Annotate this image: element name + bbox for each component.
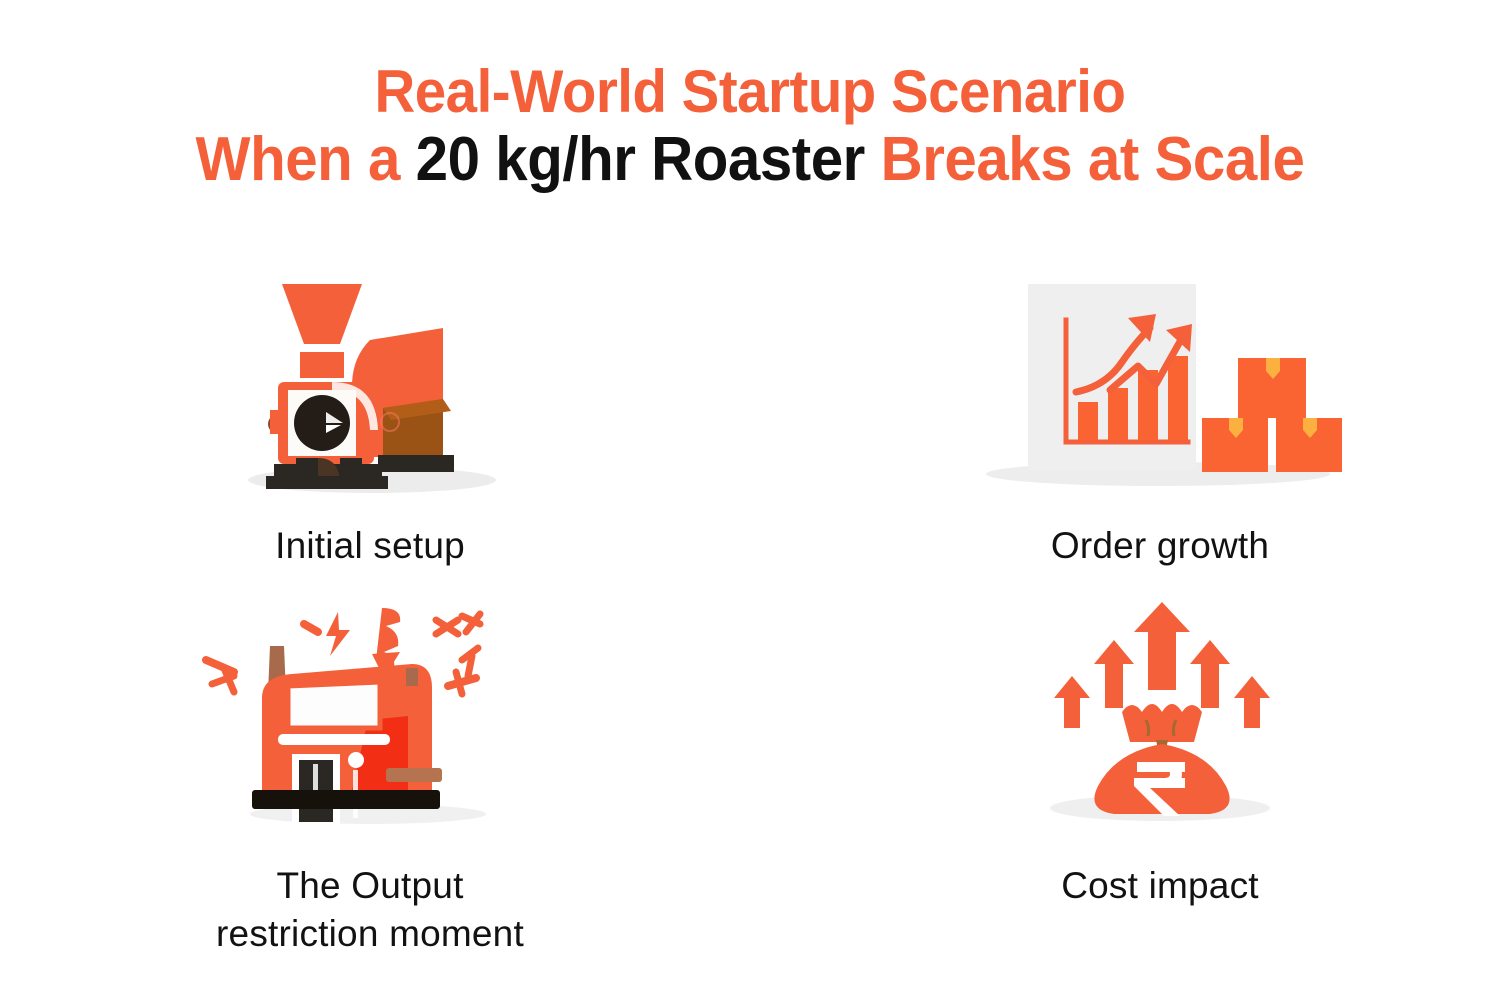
- step-card-order-growth: Order growth: [930, 262, 1390, 570]
- caption-line: Order growth: [930, 522, 1390, 570]
- step-card-cost-impact: Cost impact: [930, 602, 1390, 910]
- step-card-initial-setup: Initial setup: [140, 262, 600, 570]
- title-highlight-spec: 20 kg/hr Roaster: [416, 125, 865, 194]
- rising-arrow-group: [1054, 602, 1270, 728]
- caption-line: restriction moment: [140, 910, 600, 958]
- growth-chart-and-boxes-icon: [930, 262, 1390, 502]
- chart-bar-4: [1168, 356, 1188, 440]
- title-prefix: When a: [196, 125, 416, 194]
- step-card-output-restriction: The Output restriction moment: [140, 602, 600, 958]
- page-title: Real-World Startup Scenario When a 20 kg…: [0, 58, 1500, 194]
- step-caption-initial-setup: Initial setup: [140, 522, 600, 570]
- coffee-roaster-machine-icon: [140, 262, 600, 502]
- title-line-primary: Real-World Startup Scenario: [45, 58, 1455, 126]
- chart-bar-1: [1078, 402, 1098, 440]
- title-line-secondary: When a 20 kg/hr Roaster Breaks at Scale: [45, 126, 1455, 194]
- caption-line: Cost impact: [930, 862, 1390, 910]
- title-suffix: Breaks at Scale: [865, 125, 1305, 194]
- step-caption-output-restriction: The Output restriction moment: [140, 862, 600, 958]
- broken-roaster-machine-icon: [140, 602, 600, 842]
- chart-bar-2: [1108, 388, 1128, 440]
- step-caption-order-growth: Order growth: [930, 522, 1390, 570]
- caption-line: Initial setup: [140, 522, 600, 570]
- steps-grid: Initial setup: [0, 262, 1500, 962]
- step-caption-cost-impact: Cost impact: [930, 862, 1390, 910]
- caption-line: The Output: [140, 862, 600, 910]
- infographic-page: Real-World Startup Scenario When a 20 kg…: [0, 0, 1500, 1000]
- money-bag-rising-arrows-icon: [930, 602, 1390, 842]
